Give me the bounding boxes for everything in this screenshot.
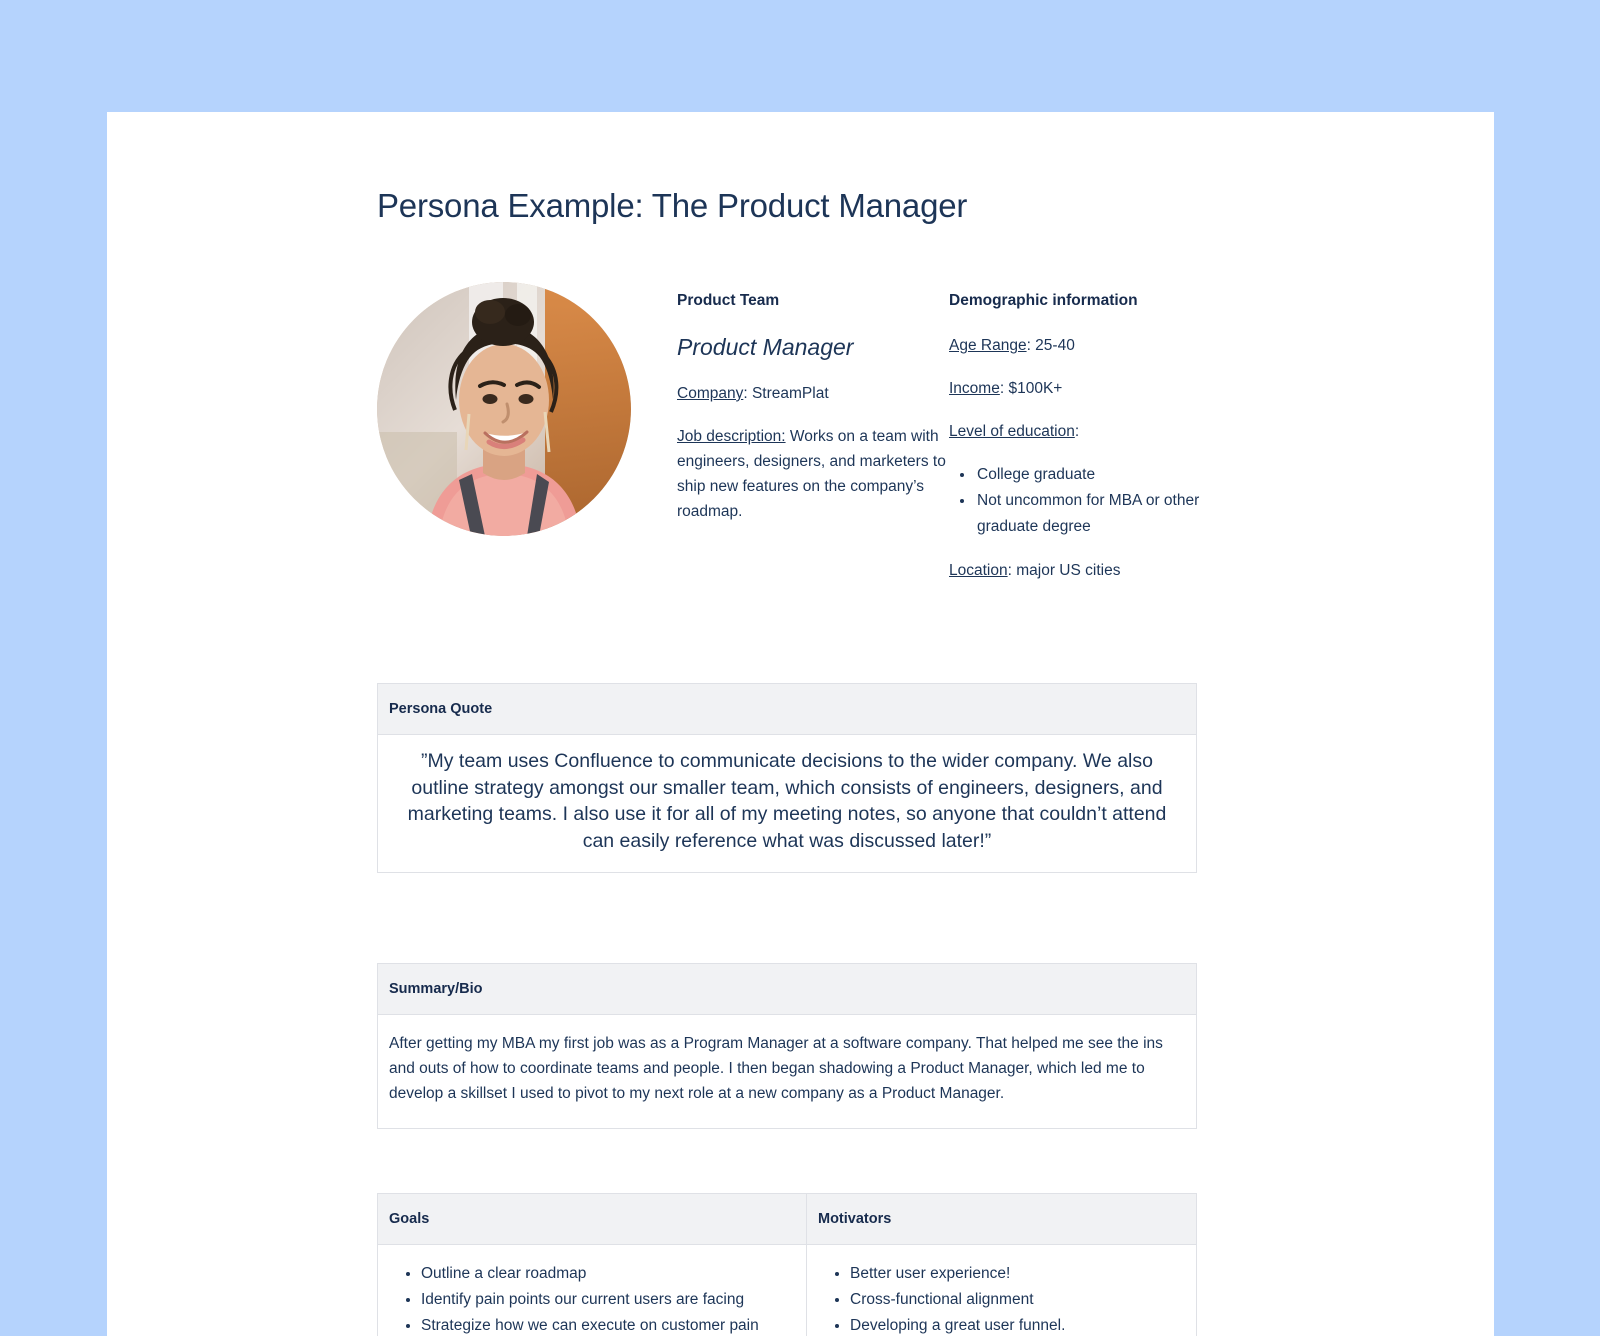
- location-label: Location: [949, 562, 1008, 579]
- income-label: Income: [949, 380, 1000, 397]
- list-item: Strategize how we can execute on custome…: [421, 1313, 795, 1336]
- goals-motivators-table: Goals Motivators Outline a clear roadmap…: [377, 1193, 1197, 1336]
- age-range-field: Age Range: 25-40: [949, 333, 1207, 358]
- list-item: Better user experience!: [850, 1261, 1185, 1286]
- company-field: Company: StreamPlat: [677, 381, 949, 406]
- job-description-label: Job description:: [677, 428, 786, 445]
- education-value: :: [1075, 423, 1079, 440]
- job-description-field: Job description: Works on a team with en…: [677, 424, 949, 524]
- location-value: : major US cities: [1008, 562, 1121, 579]
- list-item: Cross-functional alignment: [850, 1287, 1185, 1312]
- table-row: Persona Quote: [378, 684, 1197, 735]
- motivators-cell: Better user experience! Cross-functional…: [807, 1245, 1197, 1336]
- persona-quote-table: Persona Quote ”My team uses Confluence t…: [377, 683, 1197, 873]
- summary-bio-text: After getting my MBA my first job was as…: [378, 1015, 1197, 1129]
- product-team-heading: Product Team: [677, 291, 949, 311]
- table-row: Goals Motivators: [378, 1194, 1197, 1245]
- table-row: Summary/Bio: [378, 964, 1197, 1015]
- income-field: Income: $100K+: [949, 376, 1207, 401]
- page-title: Persona Example: The Product Manager: [377, 112, 1207, 226]
- education-label: Level of education: [949, 423, 1075, 440]
- document-content: Persona Example: The Product Manager: [377, 112, 1207, 1336]
- list-item: Outline a clear roadmap: [421, 1261, 795, 1286]
- persona-header-row: Product Team Product Manager Company: St…: [377, 282, 1207, 583]
- avatar: [377, 282, 631, 536]
- age-range-label: Age Range: [949, 337, 1027, 354]
- summary-bio-header: Summary/Bio: [378, 964, 1197, 1015]
- goals-list: Outline a clear roadmap Identify pain po…: [389, 1261, 795, 1336]
- list-item: Developing a great user funnel.: [850, 1313, 1185, 1336]
- list-item: College graduate: [975, 462, 1207, 488]
- motivators-header: Motivators: [807, 1194, 1197, 1245]
- age-range-value: : 25-40: [1027, 337, 1075, 354]
- table-row: Outline a clear roadmap Identify pain po…: [378, 1245, 1197, 1336]
- persona-role: Product Manager: [677, 333, 949, 361]
- company-value: : StreamPlat: [743, 385, 828, 402]
- document-page: Persona Example: The Product Manager: [107, 112, 1494, 1336]
- income-value: : $100K+: [1000, 380, 1062, 397]
- table-row: After getting my MBA my first job was as…: [378, 1015, 1197, 1129]
- demographics-heading: Demographic information: [949, 291, 1207, 311]
- product-team-column: Product Team Product Manager Company: St…: [677, 282, 949, 524]
- company-label: Company: [677, 385, 743, 402]
- goals-header: Goals: [378, 1194, 807, 1245]
- demographics-column: Demographic information Age Range: 25-40…: [949, 282, 1207, 583]
- table-row: ”My team uses Confluence to communicate …: [378, 735, 1197, 873]
- education-list: College graduate Not uncommon for MBA or…: [949, 462, 1207, 540]
- list-item: Not uncommon for MBA or other graduate d…: [975, 488, 1207, 540]
- list-item: Identify pain points our current users a…: [421, 1287, 795, 1312]
- persona-quote-text: ”My team uses Confluence to communicate …: [378, 735, 1197, 873]
- location-field: Location: major US cities: [949, 558, 1207, 583]
- avatar-container: [377, 282, 677, 536]
- motivators-list: Better user experience! Cross-functional…: [818, 1261, 1185, 1336]
- education-field: Level of education:: [949, 419, 1207, 444]
- persona-quote-header: Persona Quote: [378, 684, 1197, 735]
- avatar-portrait-icon: [377, 282, 631, 536]
- summary-bio-table: Summary/Bio After getting my MBA my firs…: [377, 963, 1197, 1129]
- goals-cell: Outline a clear roadmap Identify pain po…: [378, 1245, 807, 1336]
